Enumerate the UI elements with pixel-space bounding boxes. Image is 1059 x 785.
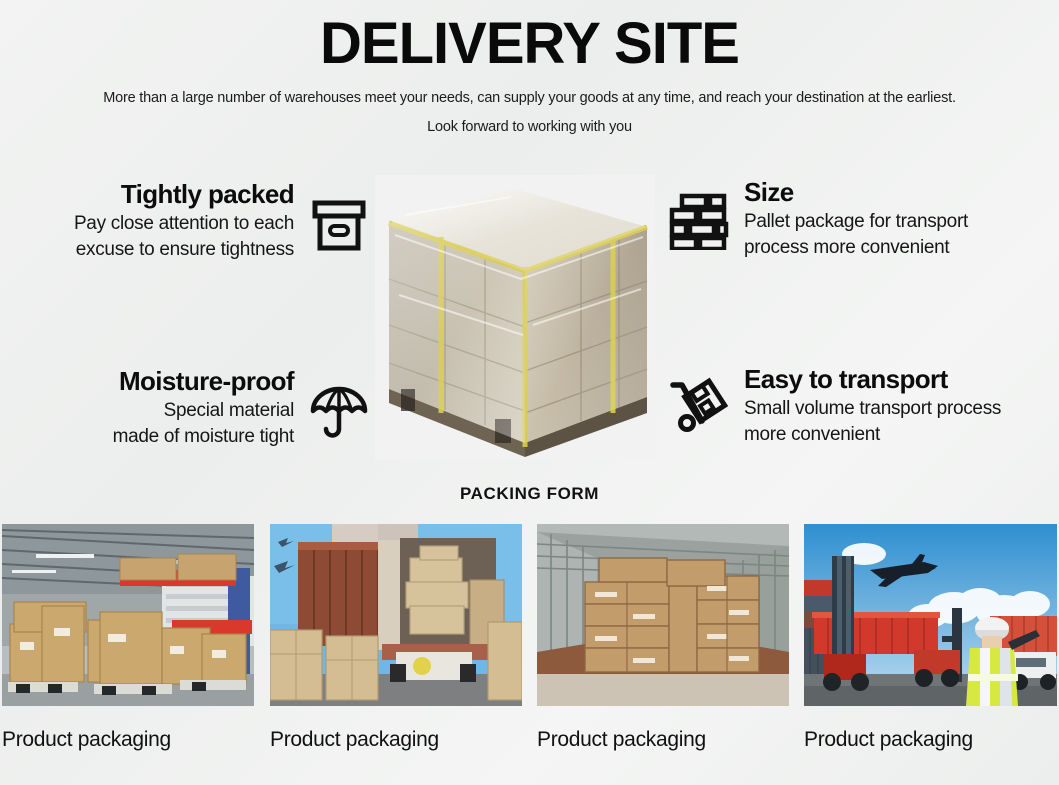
container-loading-photo xyxy=(270,524,522,706)
gallery-caption: Product packaging xyxy=(2,728,254,752)
brick-wall-icon xyxy=(668,188,730,255)
gallery-item[interactable]: Product packaging xyxy=(270,524,522,752)
shrink-wrapped-pallet-photo xyxy=(375,175,655,460)
hand-truck-icon xyxy=(668,375,730,442)
feature-description-line-2: more convenient xyxy=(744,423,1001,447)
gallery-caption: Product packaging xyxy=(270,728,522,752)
packing-form-label: PACKING FORM xyxy=(0,484,1059,504)
feature-description-line-1: Small volume transport process xyxy=(744,397,1001,421)
feature-easy-to-transport: Easy to transport Small volume transport… xyxy=(668,365,1059,446)
warehouse-pallets-photo xyxy=(2,524,254,706)
feature-description-line-1: Pallet package for transport xyxy=(744,210,968,234)
feature-heading: Moisture-proof xyxy=(113,367,294,397)
feature-size: Size Pallet package for transport proces… xyxy=(668,178,1059,259)
feature-text: Moisture-proof Special material made of … xyxy=(113,367,294,448)
gallery-item[interactable]: Product packaging xyxy=(804,524,1057,752)
feature-text: Easy to transport Small volume transport… xyxy=(744,365,1001,446)
feature-description-line-2: excuse to ensure tightness xyxy=(74,238,294,262)
subtitle-line-2: Look forward to working with you xyxy=(0,119,1059,135)
gallery-item[interactable]: Product packaging xyxy=(2,524,254,752)
feature-description-line-2: process more convenient xyxy=(744,236,968,260)
feature-heading: Easy to transport xyxy=(744,365,1001,395)
feature-tightly-packed: Tightly packed Pay close attention to ea… xyxy=(0,180,370,261)
feature-moisture-proof: Moisture-proof Special material made of … xyxy=(0,367,370,448)
feature-text: Size Pallet package for transport proces… xyxy=(744,178,968,259)
packing-form-gallery: Product packaging xyxy=(0,524,1059,782)
subtitle-line-1: More than a large number of warehouses m… xyxy=(0,90,1059,106)
feature-text: Tightly packed Pay close attention to ea… xyxy=(74,180,294,261)
container-interior-photo xyxy=(537,524,789,706)
gallery-caption: Product packaging xyxy=(537,728,789,752)
umbrella-icon xyxy=(308,381,370,448)
logistics-yard-photo xyxy=(804,524,1057,706)
feature-description-line-1: Pay close attention to each xyxy=(74,212,294,236)
archive-box-icon xyxy=(308,194,370,261)
delivery-site-banner: DELIVERY SITE More than a large number o… xyxy=(0,0,1059,785)
feature-description-line-1: Special material xyxy=(113,399,294,423)
feature-description-line-2: made of moisture tight xyxy=(113,425,294,449)
feature-heading: Size xyxy=(744,178,968,208)
page-title: DELIVERY SITE xyxy=(0,14,1059,75)
feature-heading: Tightly packed xyxy=(74,180,294,210)
gallery-item[interactable]: Product packaging xyxy=(537,524,789,752)
gallery-caption: Product packaging xyxy=(804,728,1057,752)
